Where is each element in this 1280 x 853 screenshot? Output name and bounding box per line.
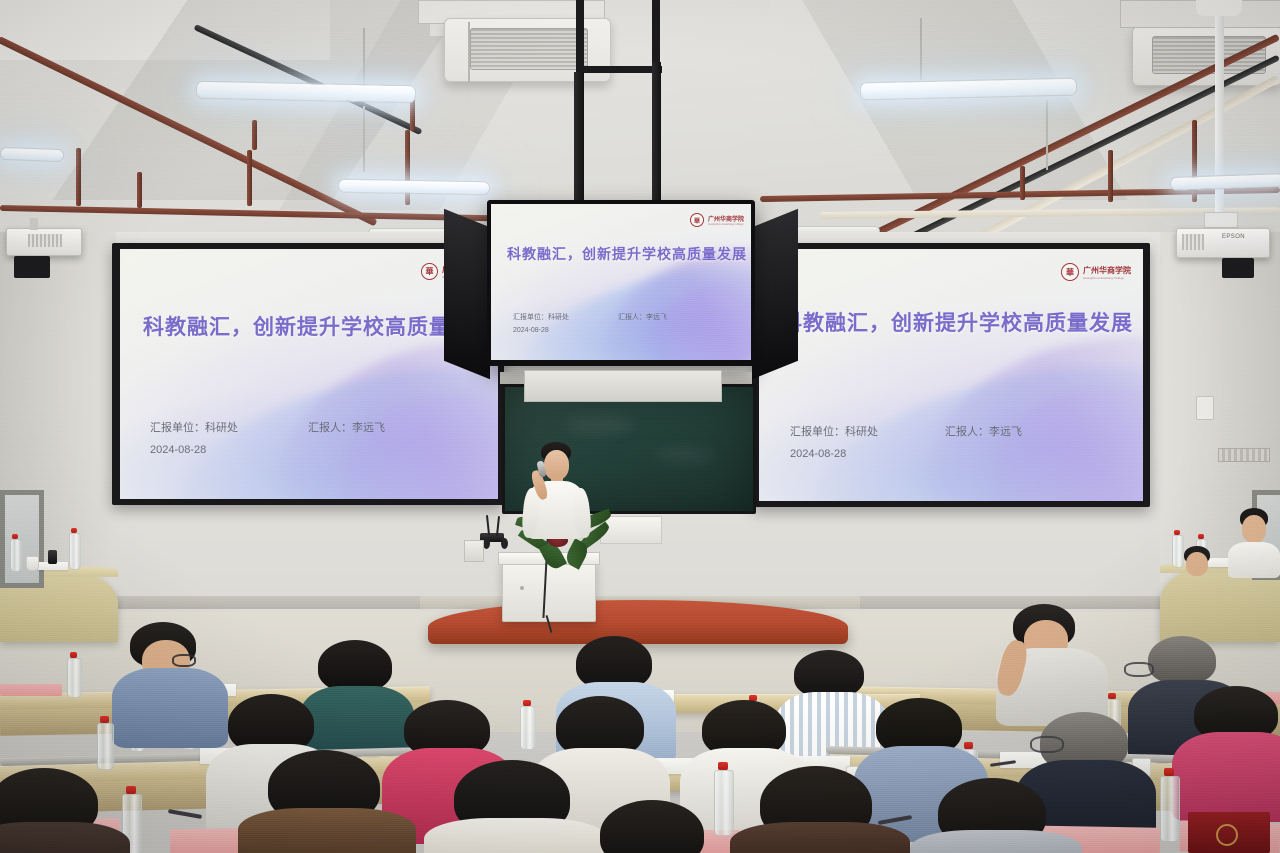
slide-logo: 華 广州华商学院 Guangzhou Huashang College <box>1061 263 1131 281</box>
slide-date: 2024-08-28 <box>150 444 206 456</box>
attendee-torso <box>910 830 1082 853</box>
university-seal-icon: 華 <box>421 263 438 280</box>
bottle-cap <box>964 742 973 749</box>
bottle-body <box>1172 535 1184 568</box>
slide-report-unit: 汇报单位：科研处 <box>790 423 878 439</box>
light-hanger-rod <box>468 22 470 82</box>
tv-screen-surface: 華 广州华商学院 Guangzhou Huashang College 科教融汇… <box>491 204 751 360</box>
water-bottle <box>67 652 80 696</box>
attendee-hair <box>1148 636 1216 684</box>
left-wall-window <box>0 490 44 588</box>
lecture-hall-photo: EPSON 華 广州华商学院 Guangzhou Huashang Colleg… <box>0 0 1280 853</box>
tv-ceiling-frame <box>652 0 660 62</box>
water-bottle <box>97 716 112 768</box>
fluorescent-tube-light <box>338 179 490 196</box>
slide-title: 科教融汇，创新提升学校高质量发展 <box>507 244 747 264</box>
bottle-body <box>520 706 536 750</box>
slide-date: 2024-08-28 <box>790 448 846 460</box>
right-screen-surface: 華 广州华商学院 Guangzhou Huashang College 科教融汇… <box>759 249 1143 501</box>
eyeglasses-icon <box>1030 736 1064 753</box>
projector-lens <box>14 256 50 278</box>
attendee-head <box>1242 515 1266 543</box>
attendee-torso <box>424 818 608 853</box>
support-post-base <box>1204 212 1238 228</box>
lectern-knob <box>520 586 524 590</box>
university-name: 广州华商学院 <box>1083 265 1131 276</box>
attendee-hair <box>794 650 864 698</box>
slide-report-unit: 汇报单位：科研处 <box>150 419 238 435</box>
slide-presenter: 汇报人：李远飞 <box>945 423 1022 439</box>
desk-mat <box>0 684 62 696</box>
projector-lens <box>1222 258 1254 278</box>
bottle-cap <box>100 716 109 723</box>
pipe-dropper <box>76 148 81 206</box>
tv-ceiling-frame <box>576 0 584 72</box>
pen <box>168 809 202 819</box>
attendee-torso <box>238 808 416 853</box>
attendee-torso <box>112 668 228 748</box>
tv-side-wing-right <box>752 209 798 380</box>
microphone-head-icon <box>501 538 508 549</box>
ac-grill-icon <box>470 28 588 70</box>
tv-side-wing-left <box>444 209 490 380</box>
white-lectern <box>502 560 596 622</box>
bottle-cap <box>718 762 728 770</box>
water-bottle <box>714 762 732 834</box>
light-hanger-rod <box>1046 100 1048 170</box>
water-bottle <box>69 528 79 568</box>
attendee-torso <box>730 822 910 853</box>
left-screen-surface: 華 广州华商学院 Guangzhou Huashang College 科教融汇… <box>120 249 498 499</box>
attendee-hair <box>318 640 392 692</box>
pipe-dropper <box>252 120 257 150</box>
bottle-body <box>1160 776 1180 842</box>
slide-presenter: 汇报人：李远飞 <box>618 312 667 322</box>
chalk-smudge <box>565 415 635 435</box>
microphone-head-icon <box>483 538 490 549</box>
attendee-torso <box>1228 542 1280 578</box>
desk-nameplate <box>464 540 484 562</box>
slide-wave-decor <box>628 257 751 360</box>
slide-presenter: 汇报人：李远飞 <box>308 419 385 435</box>
bottle-body <box>10 539 22 572</box>
projector-vent-grill <box>1182 234 1204 250</box>
support-post <box>1215 8 1224 226</box>
pipe-dropper <box>247 150 252 206</box>
university-seal-icon: 華 <box>1061 263 1079 281</box>
wall-vent <box>1218 448 1270 462</box>
attendee-torso <box>0 822 130 853</box>
pipe-dropper <box>1108 150 1113 202</box>
light-hanger-rod <box>363 106 365 172</box>
slide-title: 科教融汇，创新提升学校高质量发展 <box>143 311 495 341</box>
slide-logo: 華 广州华商学院 Guangzhou Huashang College <box>690 213 744 227</box>
pipe-dropper <box>1020 166 1025 200</box>
camera-mount <box>1196 0 1242 16</box>
water-bottle <box>520 700 534 748</box>
university-name-sub: Guangzhou Huashang College <box>708 223 744 226</box>
chalk-smudge <box>655 447 715 463</box>
slide-report-unit: 汇报单位：科研处 <box>513 312 569 322</box>
bottle-cap <box>1164 768 1174 776</box>
bottle-body <box>97 723 114 770</box>
slide-title: 科教融汇，创新提升学校高质量发展 <box>781 307 1133 337</box>
tv-stand-panel <box>524 370 722 402</box>
fluorescent-tube-light <box>0 147 64 162</box>
bottle-body <box>67 658 82 698</box>
projector-brand-label: EPSON <box>1222 234 1245 240</box>
eyeglasses-icon <box>1124 662 1154 677</box>
bottle-body <box>714 770 734 836</box>
university-seal-icon: 華 <box>690 213 704 227</box>
notebook-emblem-icon <box>1216 824 1238 846</box>
slide-wave-decor <box>503 248 751 360</box>
university-name: 广州华商学院 <box>708 214 744 223</box>
attendee-torso <box>1172 732 1280 822</box>
eyeglasses-icon <box>172 654 196 667</box>
light-hanger-rod <box>363 28 365 86</box>
wall-outlet <box>1196 396 1214 420</box>
paper-cup <box>26 556 39 571</box>
smartphone <box>48 550 57 564</box>
attendee-head <box>1186 552 1208 576</box>
university-name-sub: Guangzhou Huashang College <box>1083 276 1131 280</box>
pipe-dropper <box>137 172 142 208</box>
slide-date: 2024-08-28 <box>513 327 549 334</box>
water-bottle <box>1160 768 1178 840</box>
light-hanger-rod <box>920 18 922 80</box>
water-bottle <box>1172 530 1182 566</box>
projector-vent-grill <box>28 234 62 247</box>
bottle-cap <box>126 786 136 794</box>
water-bottle <box>10 534 20 570</box>
bottle-body <box>69 533 81 570</box>
projector-ceiling-arm <box>30 218 38 230</box>
tv-ceiling-frame <box>576 66 662 73</box>
